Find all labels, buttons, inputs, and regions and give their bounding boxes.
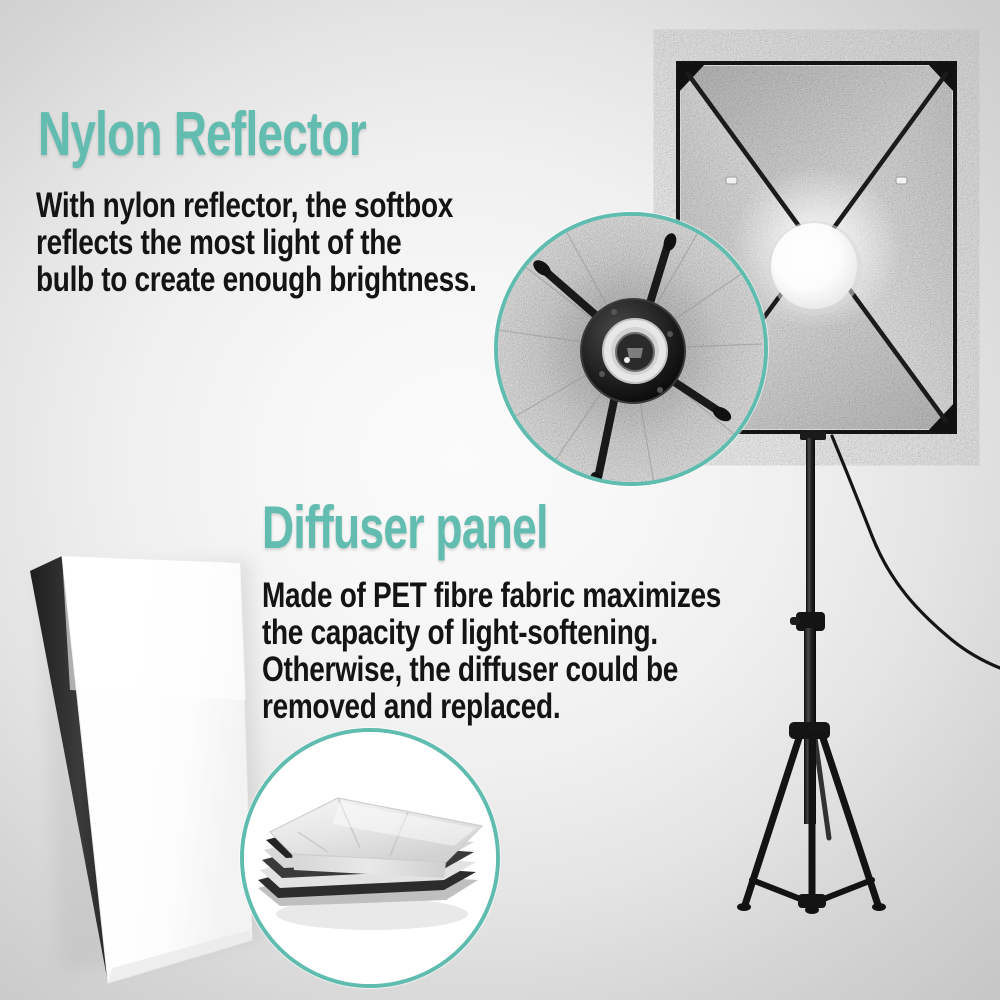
infographic-canvas: Nylon Reflector With nylon reflector, th…	[0, 0, 1000, 1000]
feature-body-nylon-reflector: With nylon reflector, the softbox reflec…	[36, 188, 477, 299]
callout-reflector-interior-closeup	[494, 212, 768, 486]
feature-body-diffuser-panel: Made of PET fibre fabric maximizes the c…	[262, 578, 721, 726]
folded-fabric-art	[240, 728, 500, 988]
feature-heading-diffuser-panel: Diffuser panel	[262, 498, 548, 558]
bulb-socket	[581, 299, 685, 403]
reflector-closeup-art	[494, 212, 768, 486]
callout-folded-diffuser-fabric	[240, 728, 500, 988]
feature-heading-nylon-reflector: Nylon Reflector	[38, 104, 366, 166]
